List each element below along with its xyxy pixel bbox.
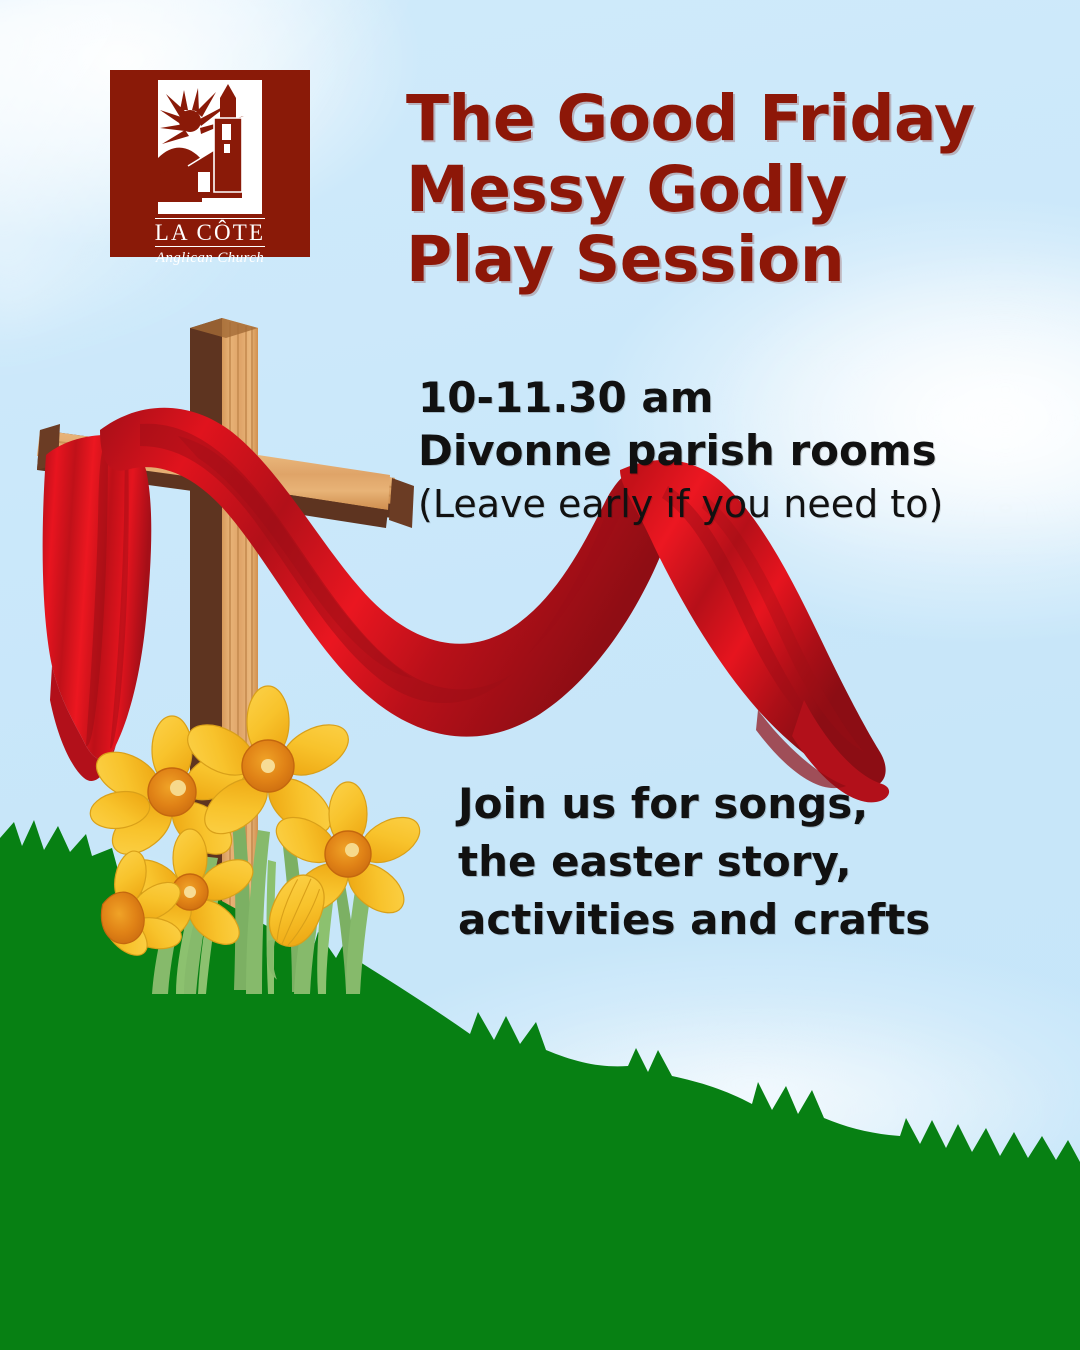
- invite-line-3: activities and crafts: [458, 891, 1038, 949]
- title-line-1: The Good Friday: [406, 84, 1046, 155]
- title-line-3: Play Session: [406, 225, 1046, 296]
- poster-canvas: LA CÔTE Anglican Church The Good Friday …: [0, 0, 1080, 1350]
- page-title: The Good Friday Messy Godly Play Session: [406, 84, 1046, 296]
- invitation-text: Join us for songs, the easter story, act…: [458, 775, 1038, 949]
- invite-line-1: Join us for songs,: [458, 775, 1038, 833]
- event-time: 10-11.30 am: [418, 372, 1038, 425]
- event-details: 10-11.30 am Divonne parish rooms (Leave …: [418, 372, 1038, 529]
- invite-line-2: the easter story,: [458, 833, 1038, 891]
- logo-subtitle: Anglican Church: [110, 250, 310, 267]
- event-venue: Divonne parish rooms: [418, 425, 1038, 478]
- logo-name: LA CÔTE: [155, 218, 266, 247]
- event-note: (Leave early if you need to): [418, 480, 1038, 529]
- church-logo: LA CÔTE Anglican Church: [110, 70, 310, 257]
- church-sunrise-emblem-icon: [158, 80, 262, 214]
- title-line-2: Messy Godly: [406, 155, 1046, 226]
- logo-wordmark: LA CÔTE Anglican Church: [110, 218, 310, 267]
